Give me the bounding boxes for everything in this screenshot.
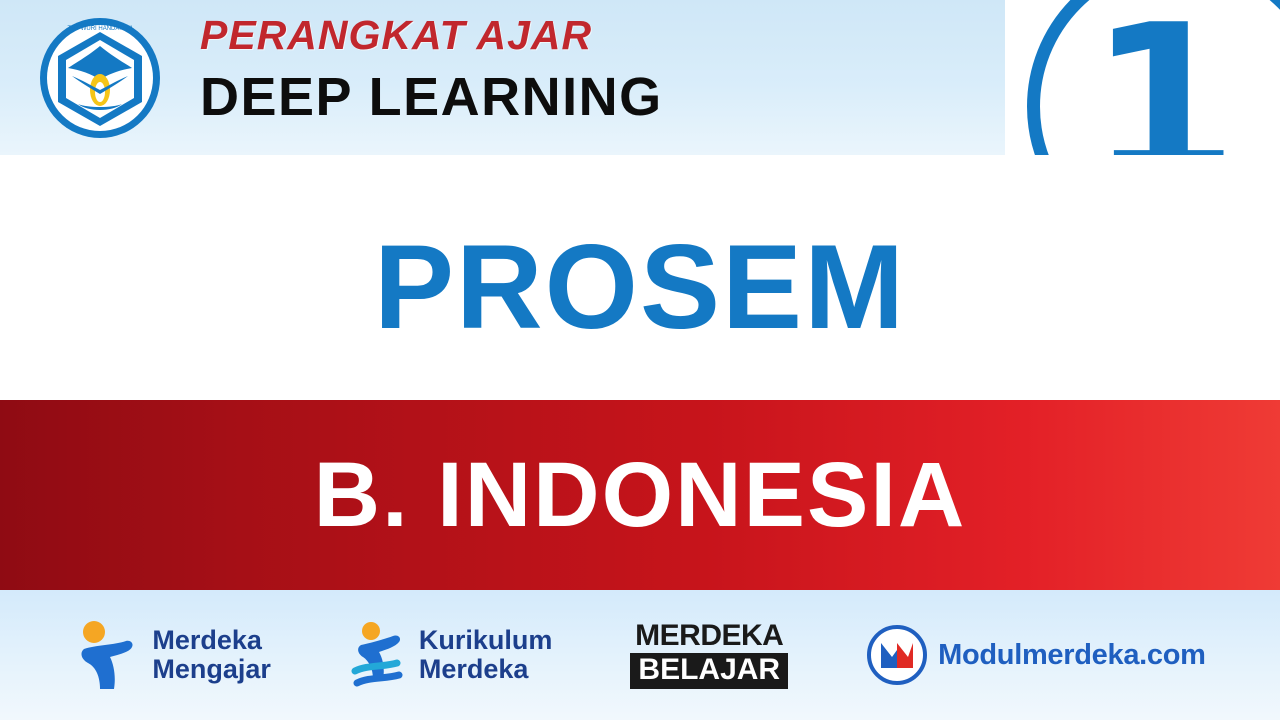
svg-text:TUT WURI HANDAYANI: TUT WURI HANDAYANI [67, 26, 132, 32]
brand-merdeka-mengajar-line1: Merdeka [152, 626, 271, 655]
subject-bar: B. INDONESIA [0, 400, 1280, 590]
poster-root: TUT WURI HANDAYANI PERANGKAT AJAR DEEP L… [0, 0, 1280, 720]
brand-kurikulum-merdeka: Kurikulum Merdeka [349, 619, 553, 691]
footer-brand-strip: Merdeka Mengajar Kurikulum Merdeka [0, 590, 1280, 720]
header-banner: TUT WURI HANDAYANI PERANGKAT AJAR DEEP L… [0, 0, 1005, 155]
brand-merdeka-belajar: MERDEKA BELAJAR [630, 621, 788, 689]
brand-merdeka-belajar-line2: BELAJAR [630, 653, 788, 689]
document-type-label: PROSEM [0, 227, 1280, 347]
brand-modulmerdeka-label: Modulmerdeka.com [938, 639, 1206, 672]
brand-merdeka-mengajar-label: Merdeka Mengajar [152, 626, 271, 684]
kurikulum-merdeka-icon [349, 619, 409, 691]
eyebrow-text: PERANGKAT AJAR [200, 12, 900, 59]
subject-label: B. INDONESIA [314, 449, 967, 541]
brand-merdeka-belajar-line1: MERDEKA [630, 621, 788, 651]
brand-modulmerdeka: Modulmerdeka.com [866, 624, 1206, 686]
modulmerdeka-m-icon [866, 624, 928, 686]
merdeka-mengajar-icon [74, 619, 142, 691]
brand-kurikulum-merdeka-label: Kurikulum Merdeka [419, 626, 553, 684]
document-type-section: PROSEM [0, 155, 1280, 400]
tut-wuri-handayani-logo: TUT WURI HANDAYANI [38, 16, 162, 140]
page-title: DEEP LEARNING [200, 67, 900, 127]
title-block: PERANGKAT AJAR DEEP LEARNING [200, 12, 900, 128]
brand-merdeka-belajar-wordmark: MERDEKA BELAJAR [630, 621, 788, 689]
brand-merdeka-mengajar: Merdeka Mengajar [74, 619, 271, 691]
brand-merdeka-mengajar-line2: Mengajar [152, 655, 271, 684]
brand-kurikulum-merdeka-line2: Merdeka [419, 655, 553, 684]
brand-kurikulum-merdeka-line1: Kurikulum [419, 626, 553, 655]
